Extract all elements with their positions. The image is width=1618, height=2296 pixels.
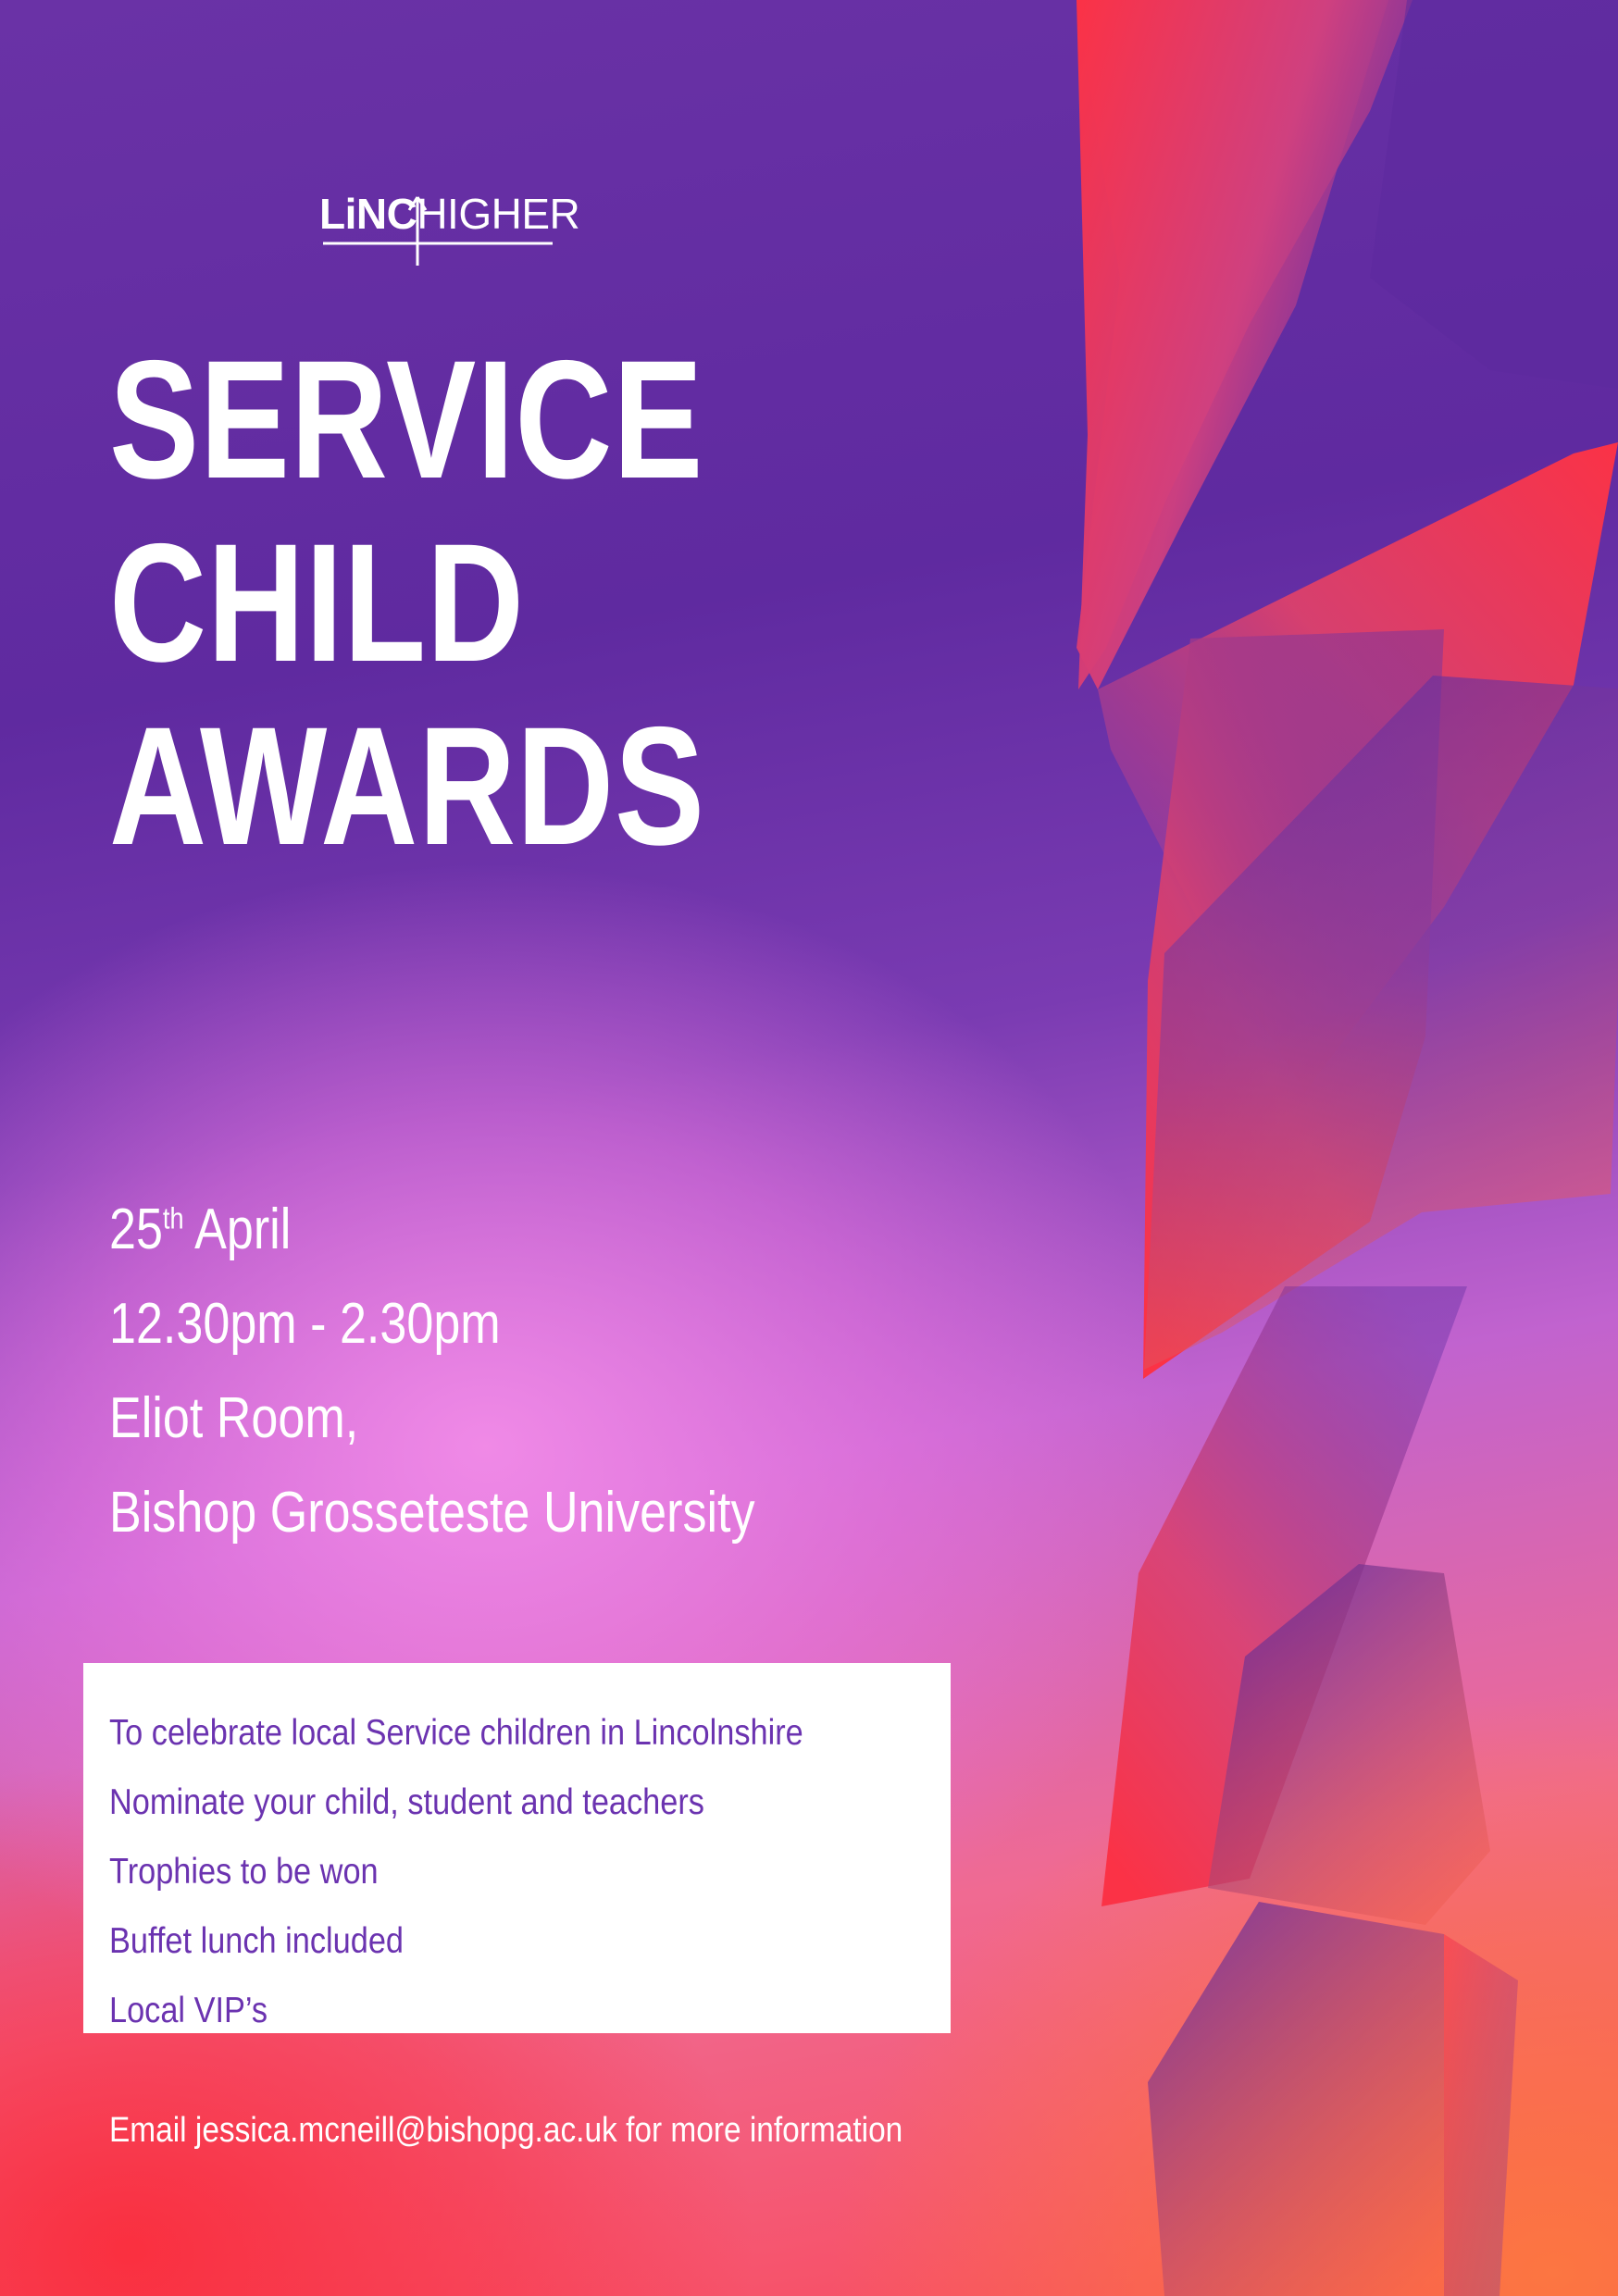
shape-upper-notch [1370, 0, 1618, 389]
shape-bottom-ribbon [1148, 1902, 1444, 2296]
shape-right-wedge [1098, 442, 1618, 1092]
event-date: 25th April [109, 1183, 887, 1277]
headline-line-1: SERVICE [109, 329, 790, 510]
event-venue-institution: Bishop Grosseteste University [109, 1466, 887, 1560]
shape-purple-trapezoid [1144, 676, 1618, 1370]
info-item-4: Buffet lunch included [109, 1906, 850, 1976]
info-item-1: To celebrate local Service children in L… [109, 1698, 850, 1768]
info-item-3: Trophies to be won [109, 1837, 850, 1906]
info-item-5: Local VIP’s [109, 1976, 850, 2045]
info-box: To celebrate local Service children in L… [83, 1663, 951, 2033]
poster-canvas: LiNCHIGHER SERVICE CHILD AWARDS 25th Apr… [0, 0, 1618, 2296]
event-venue-room: Eliot Room, [109, 1371, 887, 1466]
event-date-ordinal: th [163, 1201, 184, 1235]
linchigher-logo: LiNCHIGHER [319, 190, 597, 268]
shape-lower-quad [1208, 1564, 1490, 1925]
event-date-month: April [184, 1198, 292, 1261]
event-date-day: 25 [109, 1198, 163, 1261]
headline-line-3: AWARDS [109, 695, 790, 876]
event-details: 25th April 12.30pm - 2.30pm Eliot Room, … [109, 1183, 1035, 1560]
event-time: 12.30pm - 2.30pm [109, 1277, 887, 1371]
shape-top-red-blade [1077, 0, 1388, 689]
contact-email-line: Email jessica.mcneill@bishopg.ac.uk for … [109, 2108, 902, 2153]
shape-bottom-sliver [1444, 1934, 1518, 2296]
shape-mid-column [1143, 629, 1444, 1379]
page-title: SERVICE CHILD AWARDS [109, 329, 961, 876]
info-item-2: Nominate your child, student and teacher… [109, 1768, 850, 1837]
shape-upper-band [1077, 0, 1413, 689]
headline-line-2: CHILD [109, 512, 790, 693]
logo-arrow-and-rule [319, 190, 597, 268]
shape-lower-slant [1101, 1286, 1467, 1906]
